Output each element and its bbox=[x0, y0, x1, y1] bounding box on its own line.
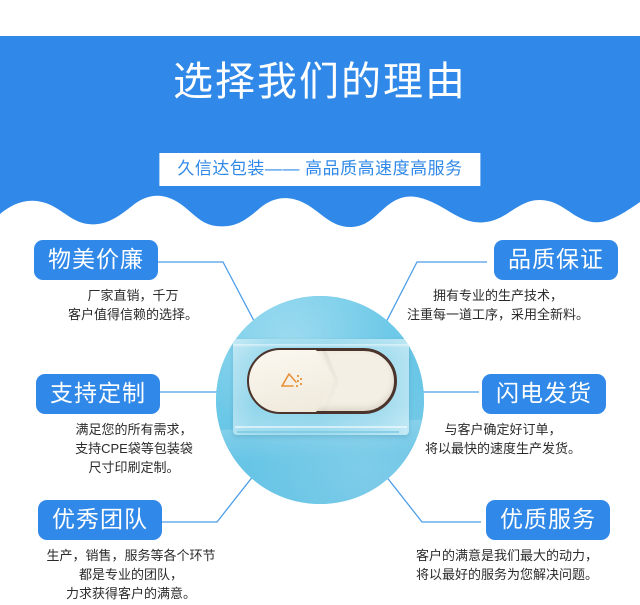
feature-3-desc-line-3: 力求获得客户的满意。 bbox=[6, 584, 256, 603]
feature-3-desc-line-2: 都是专业的团队， bbox=[6, 565, 256, 584]
wave-divider bbox=[0, 186, 640, 228]
feature-3-desc: 生产，销售，服务等各个环节 都是专业的团队， 力求获得客户的满意。 bbox=[6, 546, 256, 603]
feature-2-pill-row: 支持定制 bbox=[16, 374, 256, 414]
feature-1-title[interactable]: 物美价廉 bbox=[34, 240, 158, 280]
feature-4-title[interactable]: 品质保证 bbox=[494, 240, 618, 280]
feature-5-desc-line-2: 将以最快的速度生产发货。 bbox=[388, 439, 618, 458]
header-subtitle-box: 久信达包装—— 高品质高速度高服务 bbox=[159, 153, 480, 186]
feature-5-title[interactable]: 闪电发货 bbox=[482, 374, 606, 414]
feature-1-desc-line-1: 厂家直销，千万 bbox=[22, 286, 244, 305]
feature-6-pill-row: 优质服务 bbox=[382, 500, 632, 540]
feature-6-desc-line-2: 将以最好的服务为您解决问题。 bbox=[382, 565, 632, 584]
feature-item-2: 支持定制 满足您的所有需求， 支持CPE袋等包装袋 尺寸印刷定制。 bbox=[16, 374, 256, 477]
feature-1-desc: 厂家直销，千万 客户值得信赖的选择。 bbox=[22, 286, 252, 324]
feature-item-3: 优秀团队 生产，销售，服务等各个环节 都是专业的团队， 力求获得客户的满意。 bbox=[6, 500, 256, 603]
promo-banner: 选择我们的理由 久信达包装—— 高品质高速度高服务 bbox=[0, 0, 640, 605]
feature-item-4: 品质保证 拥有专业的生产技术， 注重每一道工序，采用全新料。 bbox=[378, 240, 618, 324]
bag-seam-bottom bbox=[235, 426, 407, 428]
slipper-logo-icon bbox=[280, 372, 306, 390]
feature-1-pill-row: 物美价廉 bbox=[22, 240, 252, 280]
bag-seam-top bbox=[233, 344, 409, 347]
feature-item-6: 优质服务 客户的满意是我们最大的动力， 将以最好的服务为您解决问题。 bbox=[382, 500, 632, 584]
feature-2-desc-line-3: 尺寸印刷定制。 bbox=[16, 458, 252, 477]
product-slipper bbox=[247, 348, 397, 414]
page-title: 选择我们的理由 bbox=[0, 58, 640, 106]
feature-5-pill-row: 闪电发货 bbox=[388, 374, 618, 414]
feature-2-desc-line-1: 满足您的所有需求， bbox=[16, 420, 252, 439]
feature-5-desc: 与客户确定好订单， 将以最快的速度生产发货。 bbox=[388, 420, 618, 458]
feature-2-title[interactable]: 支持定制 bbox=[36, 374, 160, 414]
feature-1-desc-line-2: 客户值得信赖的选择。 bbox=[22, 305, 244, 324]
feature-5-desc-line-1: 与客户确定好订单， bbox=[388, 420, 618, 439]
feature-4-pill-row: 品质保证 bbox=[378, 240, 618, 280]
feature-item-5: 闪电发货 与客户确定好订单， 将以最快的速度生产发货。 bbox=[388, 374, 618, 458]
feature-4-desc: 拥有专业的生产技术， 注重每一道工序，采用全新料。 bbox=[378, 286, 618, 324]
feature-item-1: 物美价廉 厂家直销，千万 客户值得信赖的选择。 bbox=[22, 240, 252, 324]
feature-3-pill-row: 优秀团队 bbox=[6, 500, 256, 540]
bag-seam-bottom-edge bbox=[237, 431, 399, 433]
feature-2-desc-line-2: 支持CPE袋等包装袋 bbox=[16, 439, 252, 458]
feature-6-desc-line-1: 客户的满意是我们最大的动力， bbox=[382, 546, 632, 565]
feature-3-title[interactable]: 优秀团队 bbox=[38, 500, 162, 540]
feature-2-desc: 满足您的所有需求， 支持CPE袋等包装袋 尺寸印刷定制。 bbox=[16, 420, 256, 477]
feature-4-desc-line-2: 注重每一道工序，采用全新料。 bbox=[378, 305, 618, 324]
product-bag bbox=[233, 339, 409, 435]
feature-4-desc-line-1: 拥有专业的生产技术， bbox=[378, 286, 618, 305]
header-subtitle: 久信达包装—— 高品质高速度高服务 bbox=[177, 158, 462, 180]
feature-6-title[interactable]: 优质服务 bbox=[486, 500, 610, 540]
feature-3-desc-line-1: 生产，销售，服务等各个环节 bbox=[6, 546, 256, 565]
feature-6-desc: 客户的满意是我们最大的动力， 将以最好的服务为您解决问题。 bbox=[382, 546, 632, 584]
header-band: 选择我们的理由 久信达包装—— 高品质高速度高服务 bbox=[0, 36, 640, 186]
